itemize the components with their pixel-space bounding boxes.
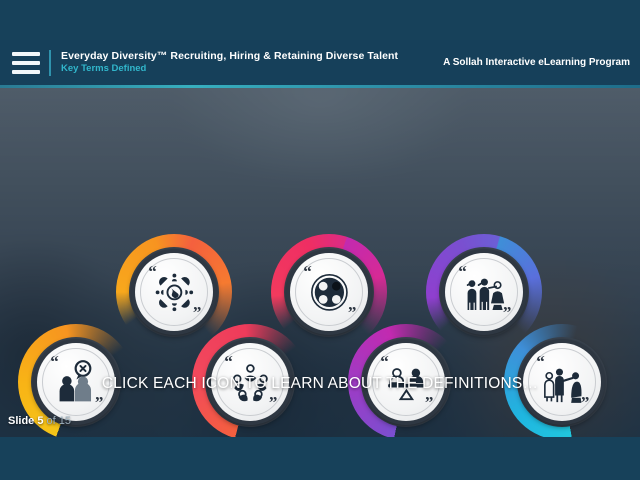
node-face-4: “ ”	[290, 253, 368, 331]
icon-node-6[interactable]: “ ”	[426, 234, 542, 350]
icon-node-4[interactable]: “ ”	[271, 234, 387, 350]
dots-one-different-icon	[306, 269, 353, 316]
node-disc-2[interactable]: “ ”	[131, 249, 217, 335]
three-people-together-icon	[461, 269, 508, 316]
course-title-block: Everyday Diversity™ Recruiting, Hiring &…	[61, 50, 433, 75]
hamburger-bar-3	[12, 70, 40, 74]
slide-counter-current: Slide 5	[8, 415, 43, 427]
hamburger-bar-1	[12, 52, 40, 56]
course-header-bar: Everyday Diversity™ Recruiting, Hiring &…	[0, 40, 640, 85]
course-subtitle: Key Terms Defined	[61, 63, 433, 75]
slide-instruction-caption: CLICK EACH ICON TO LEARN ABOUT THE DEFIN…	[0, 375, 640, 393]
slide-counter-total: of 15	[43, 415, 71, 427]
node-face-6: “ ”	[445, 253, 523, 331]
slide-stage: “ ”	[0, 88, 640, 437]
header-divider	[49, 50, 51, 76]
course-title: Everyday Diversity™ Recruiting, Hiring &…	[61, 50, 433, 63]
slide-counter: Slide 5 of 15	[8, 415, 71, 427]
node-face-2: “ ”	[135, 253, 213, 331]
node-disc-4[interactable]: “ ”	[286, 249, 372, 335]
node-disc-6[interactable]: “ ”	[441, 249, 527, 335]
icon-node-2[interactable]: “ ”	[116, 234, 232, 350]
globe-people-diversity-icon	[151, 269, 198, 316]
hamburger-bar-2	[12, 61, 40, 65]
hamburger-menu-icon[interactable]	[12, 52, 40, 74]
program-label: A Sollah Interactive eLearning Program	[433, 57, 630, 68]
elearning-player: Everyday Diversity™ Recruiting, Hiring &…	[0, 0, 640, 480]
